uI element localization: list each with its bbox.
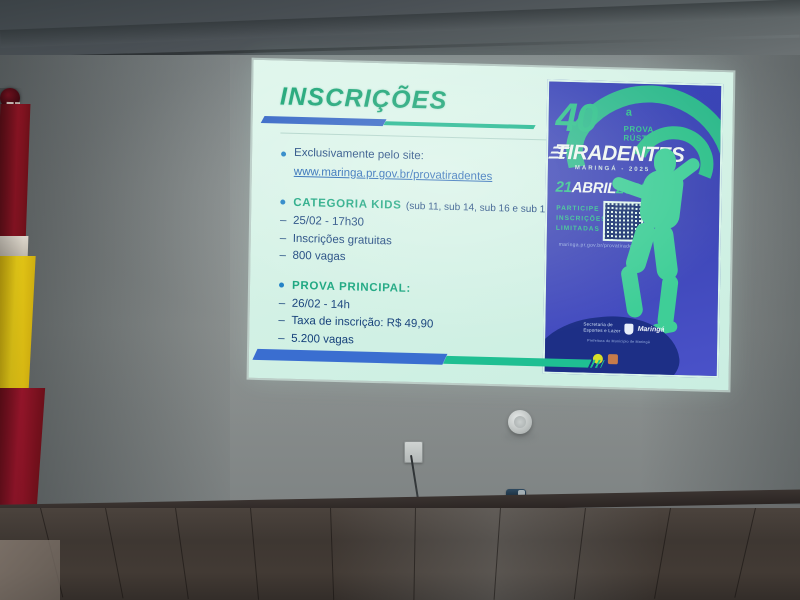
footer-bar-green xyxy=(443,356,592,368)
poster-footer-org: Secretaria de Esportes e Lazer xyxy=(583,322,620,334)
event-poster: 40 a PROVA RÚSTICA TIRADENTES MARINGÁ - … xyxy=(543,79,724,378)
footer-bar-blue xyxy=(252,349,447,365)
footer-bar-ticks xyxy=(585,360,605,368)
title-hairline xyxy=(280,132,555,140)
runner-silhouette-icon xyxy=(607,141,718,344)
title-underline xyxy=(263,116,538,130)
poster-footer-logos: Secretaria de Esportes e Lazer Maringá xyxy=(583,318,683,339)
city-shield-icon xyxy=(625,323,634,334)
poster-footer-org-line2: Esportes e Lazer xyxy=(583,327,620,334)
room-scene: INSCRIÇÕES Exclusivamente pelo site: www… xyxy=(0,0,800,600)
poster-footer-city: Maringá xyxy=(638,325,665,333)
poster-callout: PARTICIPE INSCRIÇÕES LIMITADAS xyxy=(556,204,607,236)
title-underline-blue xyxy=(261,116,387,126)
projected-slide: INSCRIÇÕES Exclusivamente pelo site: www… xyxy=(249,60,734,391)
title-underline-green xyxy=(383,121,535,129)
bullet-site: Exclusivamente pelo site: www.maringa.pr… xyxy=(279,144,579,187)
slide-content: Exclusivamente pelo site: www.maringa.pr… xyxy=(276,144,579,355)
prova-principal-heading: PROVA PRINCIPAL: xyxy=(292,280,411,295)
wall-mounted-round-device xyxy=(508,410,532,434)
slide-title: INSCRIÇÕES xyxy=(280,82,448,115)
poster-callout-line3: LIMITADAS xyxy=(556,224,607,235)
wooden-floor xyxy=(0,508,800,600)
poster-edition-sup: a xyxy=(626,106,632,118)
floor-tile-corner xyxy=(0,540,60,600)
hanging-flag xyxy=(0,88,46,528)
wall-power-outlet[interactable] xyxy=(404,441,423,463)
poster-edition-number: 40 xyxy=(555,98,596,139)
categoria-kids-suffix: (sub 11, sub 14, sub 16 e sub 18): xyxy=(406,201,557,216)
categoria-kids-heading: CATEGORIA KIDS xyxy=(293,197,401,212)
slide-surface: INSCRIÇÕES Exclusivamente pelo site: www… xyxy=(249,60,734,391)
poster-date-day: 21 xyxy=(555,179,571,196)
